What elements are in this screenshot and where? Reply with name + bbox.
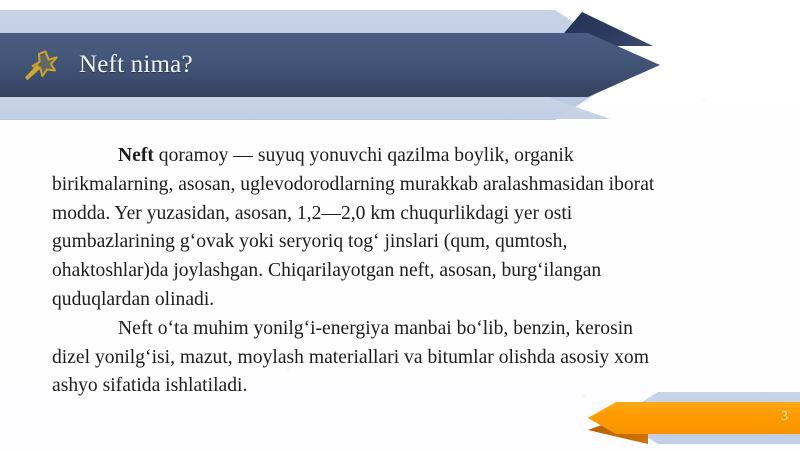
body-lead-word: Neft <box>118 145 154 166</box>
presentation-slide: Neft nima? Neft qoramoy — suyuq yonuvchi… <box>0 0 800 450</box>
footer-banner: 3 <box>580 392 800 450</box>
footer-ribbon-shape <box>588 402 800 434</box>
header-under-strip <box>0 97 610 119</box>
body-paragraph-2: Neft o‘ta muhim yonilg‘i-energiya manbai… <box>52 315 668 401</box>
gold-pushpin-star-icon <box>21 45 61 85</box>
page-number: 3 <box>781 406 788 428</box>
page-title: Neft nima? <box>79 49 193 81</box>
body-paragraph-2-text: Neft o‘ta muhim yonilg‘i-energiya manbai… <box>52 318 649 397</box>
slide-body-text: Neft qoramoy — suyuq yonuvchi qazilma bo… <box>52 142 668 401</box>
header-banner: Neft nima? <box>0 0 800 132</box>
body-paragraph-1: Neft qoramoy — suyuq yonuvchi qazilma bo… <box>52 142 668 315</box>
body-paragraph-1-text: qoramoy — suyuq yonuvchi qazilma boylik,… <box>52 145 654 310</box>
